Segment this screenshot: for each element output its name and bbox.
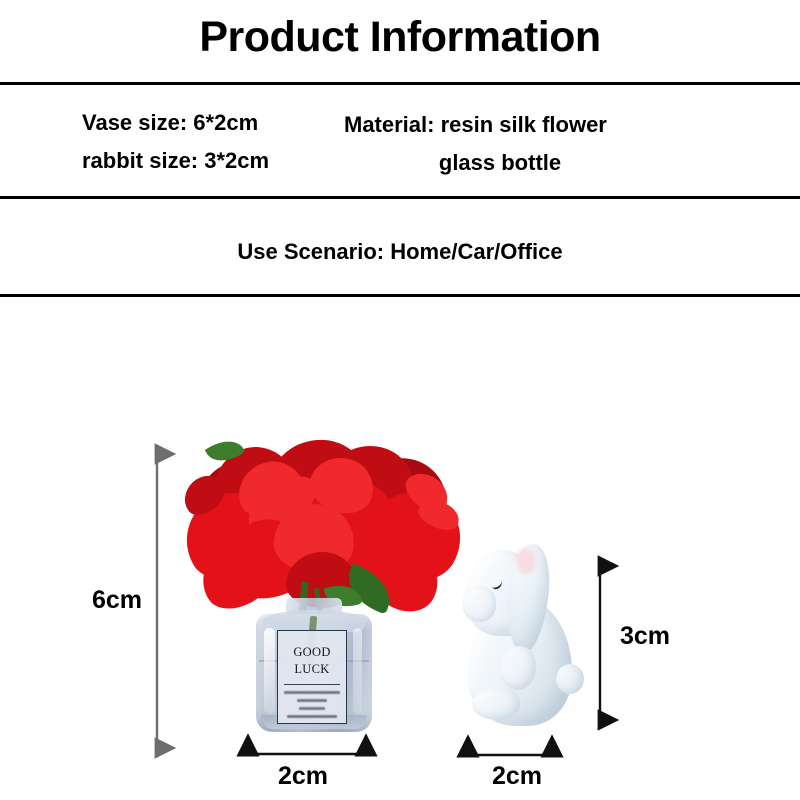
page-title: Product Information	[0, 14, 800, 61]
rabbit-figurine-image	[460, 538, 588, 728]
bottle-label-fineprint	[278, 691, 346, 718]
spec-material-line2: glass bottle	[344, 152, 656, 174]
bottle-label-line2: LUCK	[278, 661, 346, 678]
spec-rabbit-size: rabbit size: 3*2cm	[82, 150, 269, 172]
divider-rule-top	[0, 82, 800, 85]
spec-vase-size: Vase size: 6*2cm	[82, 112, 258, 134]
rabbit-ear-inner	[516, 548, 536, 574]
bottle-highlight-right	[353, 628, 362, 714]
divider-rule-middle	[0, 196, 800, 199]
divider-rule-bottom	[0, 294, 800, 297]
dimension-label-vase-height: 6cm	[92, 588, 142, 613]
silk-flower-bouquet	[178, 432, 468, 622]
spec-material-line1: Material: resin silk flower	[344, 114, 607, 136]
bottle-label-divider	[284, 684, 340, 685]
dimension-label-rabbit-width: 2cm	[492, 764, 542, 789]
bottle-label-line1: GOOD	[278, 644, 346, 661]
dimension-label-rabbit-height: 3cm	[620, 624, 670, 649]
bottle-label: GOOD LUCK	[277, 630, 347, 724]
vase-product-image: GOOD LUCK	[178, 432, 468, 737]
spec-use-scenario: Use Scenario: Home/Car/Office	[0, 239, 800, 265]
dimension-label-vase-width: 2cm	[278, 764, 328, 789]
rabbit-tail	[556, 664, 584, 694]
rabbit-muzzle	[462, 586, 496, 622]
glass-bottle: GOOD LUCK	[256, 598, 372, 732]
bottle-highlight-left	[264, 628, 275, 714]
rabbit-foot	[472, 688, 520, 720]
product-information-infographic: Product Information Vase size: 6*2cm rab…	[0, 0, 800, 800]
